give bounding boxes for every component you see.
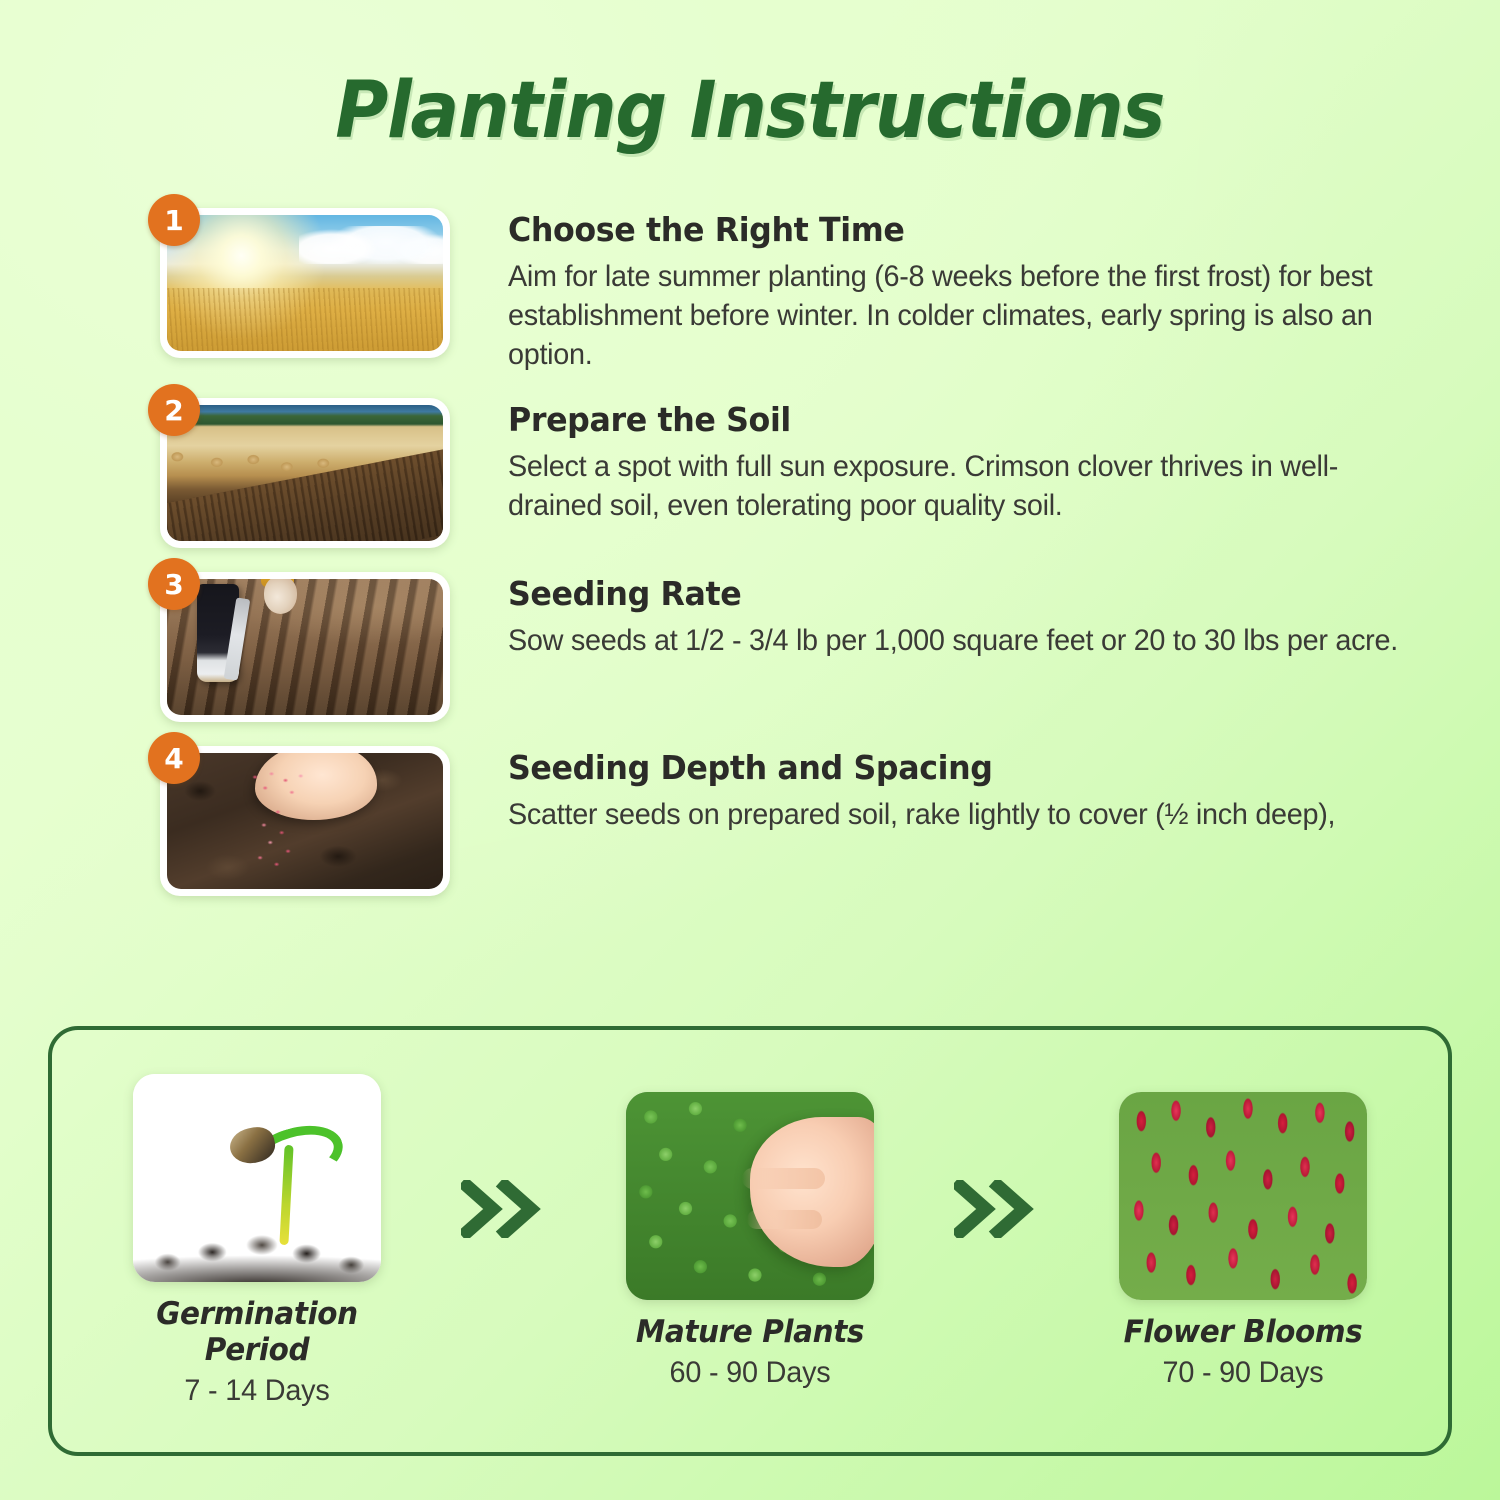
page-title-container: Planting Instructions <box>0 72 1500 150</box>
step-media: 4 <box>160 734 450 896</box>
step-body: Scatter seeds on prepared soil, rake lig… <box>508 795 1335 834</box>
step-image-card: 1 <box>160 208 450 358</box>
step-number-badge: 3 <box>148 558 200 610</box>
step-text: Choose the Right Time Aim for late summe… <box>508 196 1468 374</box>
step-number-badge: 2 <box>148 384 200 436</box>
timeline-stage-label: Mature Plants <box>593 1314 907 1350</box>
page-title: Planting Instructions <box>336 72 1165 150</box>
step-body: Aim for late summer planting (6-8 weeks … <box>508 257 1430 374</box>
step-item: 3 Seeding Rate Sow seeds at 1/2 - 3/4 lb… <box>0 560 1500 722</box>
timeline-stage-label: Germination Period <box>100 1296 414 1368</box>
timeline-stage: Germination Period 7 - 14 Days <box>92 1074 422 1408</box>
step-image-card: 3 <box>160 572 450 722</box>
step-body: Sow seeds at 1/2 - 3/4 lb per 1,000 squa… <box>508 621 1398 660</box>
timeline-stage: Mature Plants 60 - 90 Days <box>585 1092 915 1390</box>
sunlit-wheat-field-photo <box>167 215 443 351</box>
timeline-stage-label: Flower Blooms <box>1086 1314 1400 1350</box>
step-title: Prepare the Soil <box>508 400 1430 439</box>
step-body: Select a spot with full sun exposure. Cr… <box>508 447 1430 525</box>
hand-scattering-seeds-photo <box>167 753 443 889</box>
harvested-field-hay-bales-photo <box>167 405 443 541</box>
double-chevron-right-icon <box>942 1180 1052 1238</box>
step-item: 4 Seeding Depth and Spacing Scatter seed… <box>0 734 1500 896</box>
planting-instructions-infographic: Planting Instructions 1 Choose the Right… <box>0 0 1500 1500</box>
step-number-badge: 4 <box>148 732 200 784</box>
steps-list: 1 Choose the Right Time Aim for late sum… <box>0 196 1500 908</box>
timeline-stage-value: 7 - 14 Days <box>99 1374 416 1408</box>
step-item: 2 Prepare the Soil Select a spot with fu… <box>0 386 1500 548</box>
step-media: 3 <box>160 560 450 722</box>
timeline-stage: Flower Blooms 70 - 90 Days <box>1078 1092 1408 1390</box>
step-media: 2 <box>160 386 450 548</box>
step-title: Choose the Right Time <box>508 210 1430 249</box>
step-text: Seeding Depth and Spacing Scatter seeds … <box>508 734 1370 834</box>
double-chevron-right-icon <box>449 1180 559 1238</box>
step-item: 1 Choose the Right Time Aim for late sum… <box>0 196 1500 374</box>
clover-leaves-hand-photo <box>626 1092 874 1300</box>
step-text: Seeding Rate Sow seeds at 1/2 - 3/4 lb p… <box>508 560 1435 660</box>
step-number-badge: 1 <box>148 194 200 246</box>
timeline-stage-value: 70 - 90 Days <box>1085 1356 1402 1390</box>
step-media: 1 <box>160 196 450 358</box>
step-image-card: 4 <box>160 746 450 896</box>
timeline-stage-value: 60 - 90 Days <box>592 1356 909 1390</box>
boot-hoe-tilled-soil-photo <box>167 579 443 715</box>
step-text: Prepare the Soil Select a spot with full… <box>508 386 1468 525</box>
sprouting-seed-photo <box>133 1074 381 1282</box>
growth-timeline-panel: Germination Period 7 - 14 Days Mature Pl… <box>48 1026 1452 1456</box>
step-title: Seeding Rate <box>508 574 1398 613</box>
crimson-clover-blooms-photo <box>1119 1092 1367 1300</box>
step-image-card: 2 <box>160 398 450 548</box>
step-title: Seeding Depth and Spacing <box>508 748 1335 787</box>
